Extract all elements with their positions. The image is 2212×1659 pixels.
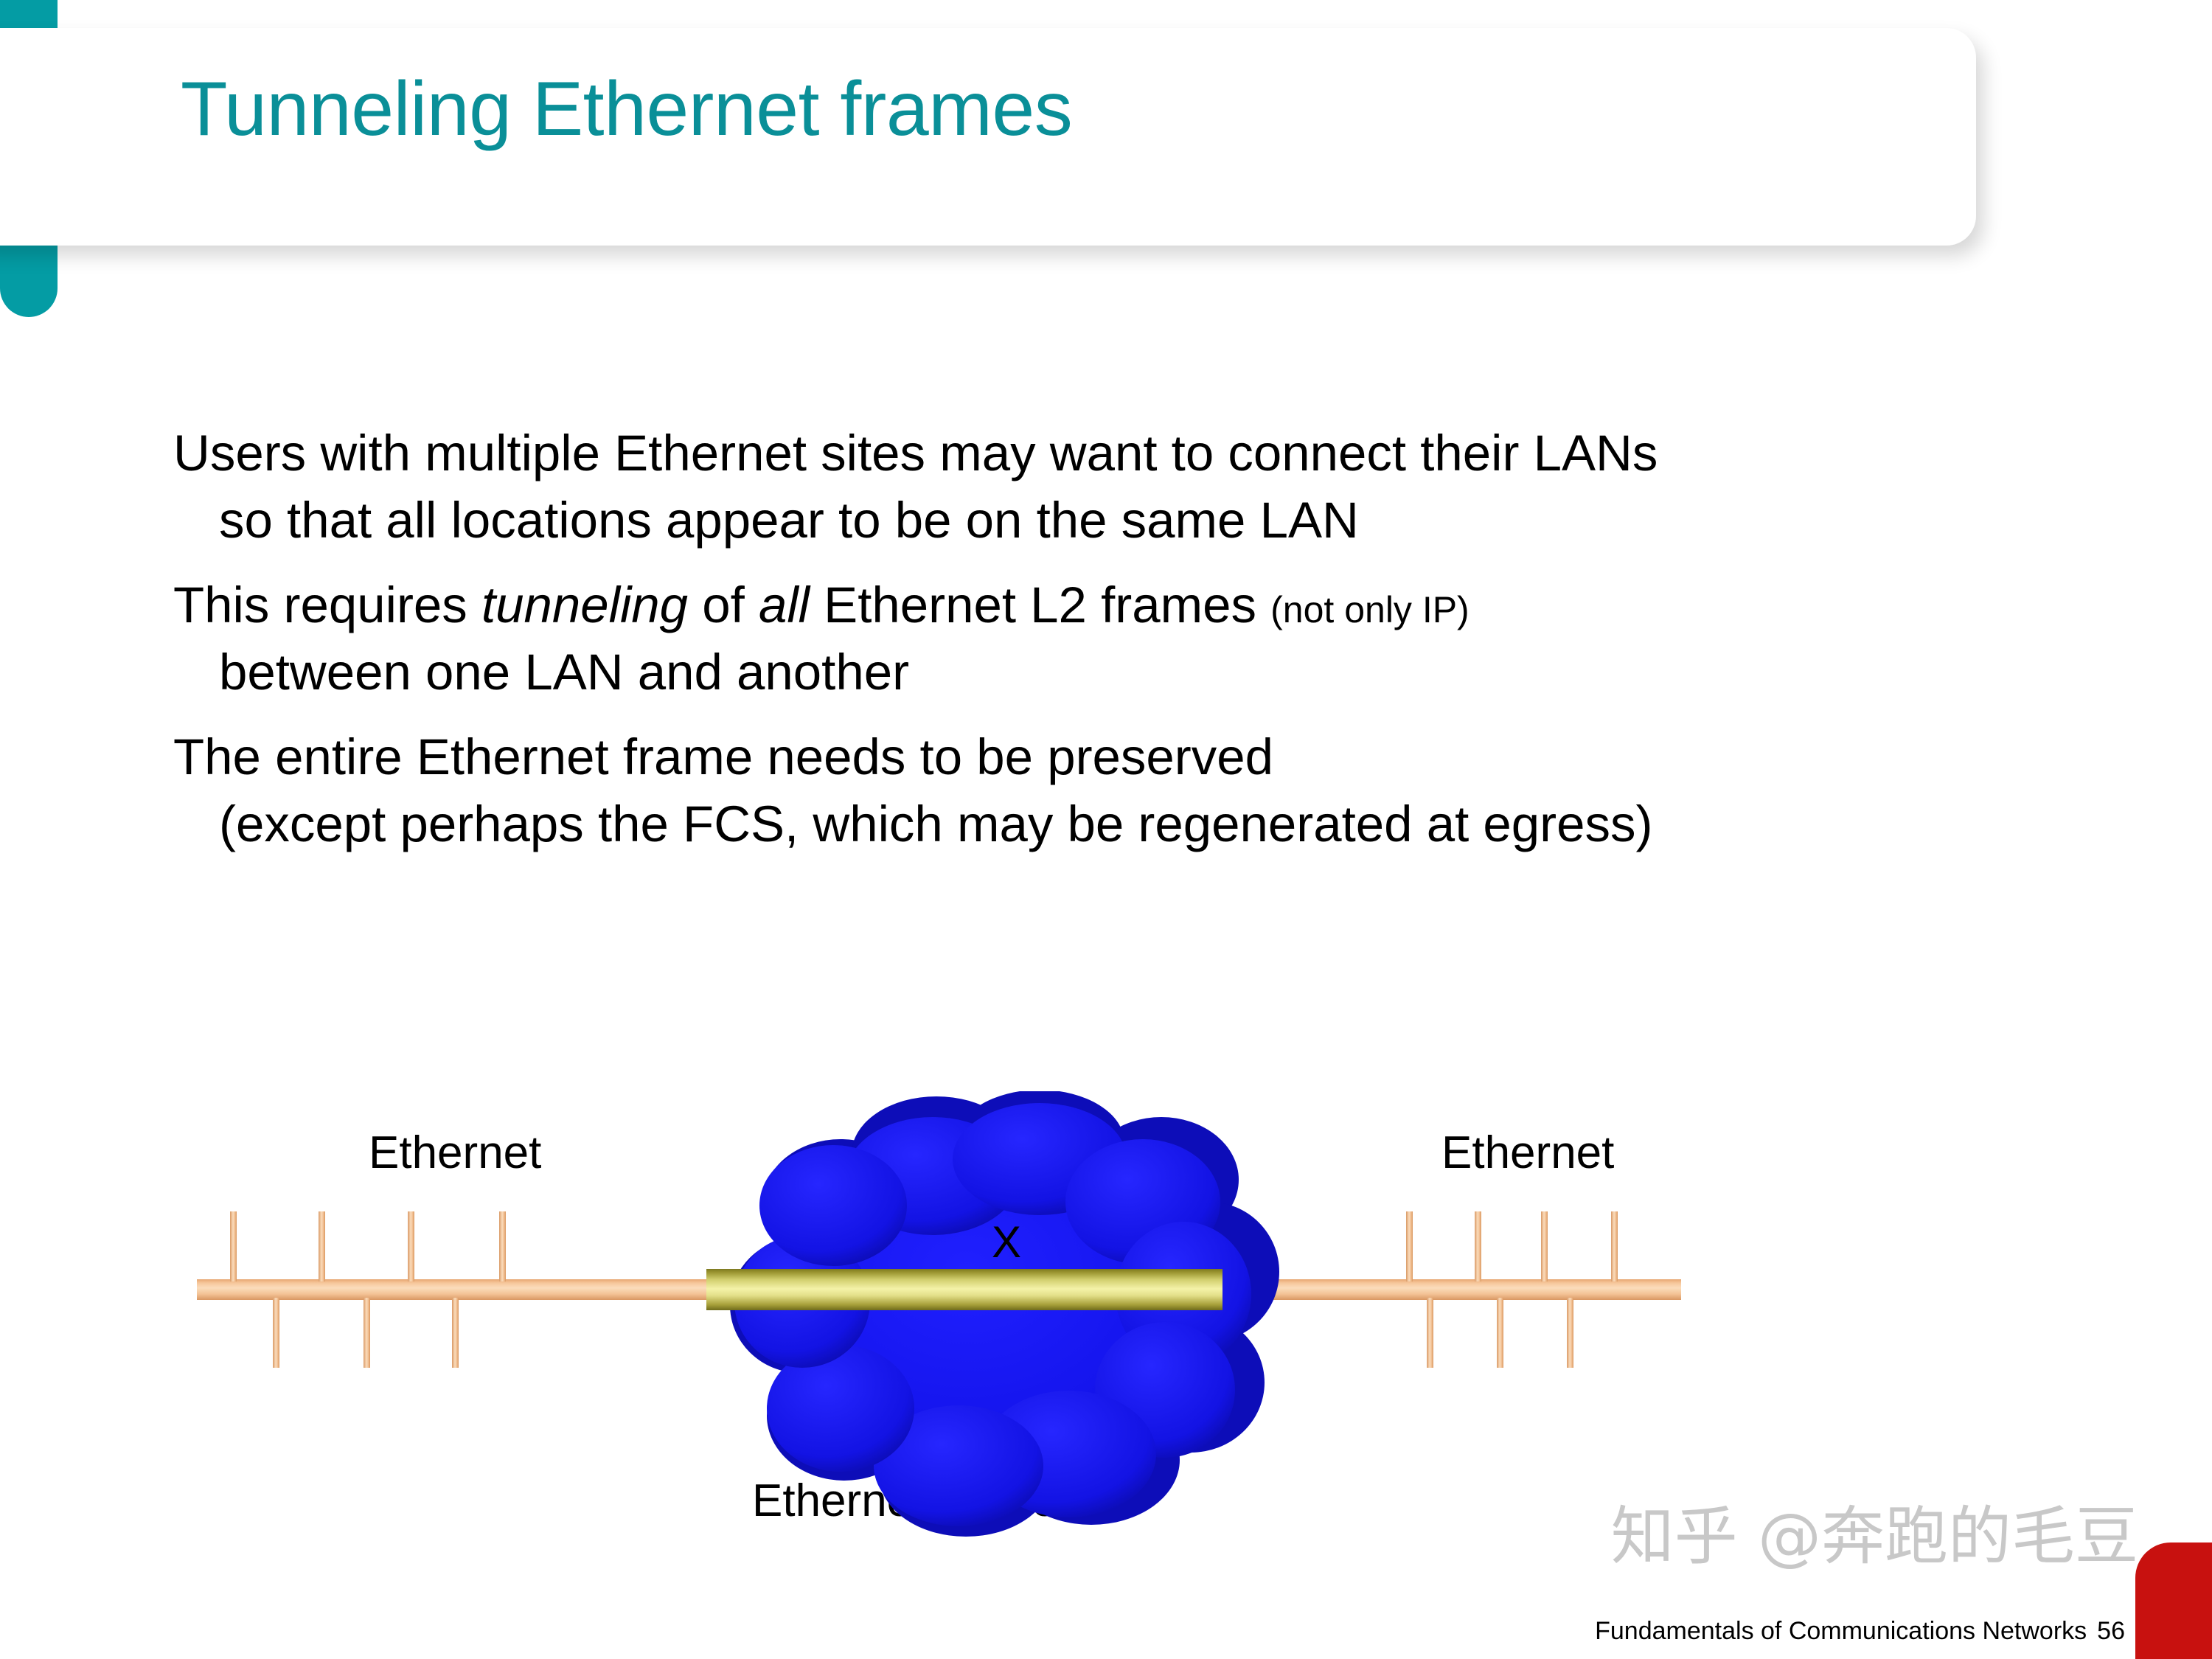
network-cloud-x	[723, 1091, 1283, 1541]
paragraph-1-text: Users with multiple Ethernet sites may w…	[173, 425, 1658, 481]
footer-course-name: Fundamentals of Communications Networks	[1595, 1617, 2087, 1645]
bus-stub-up	[1406, 1211, 1413, 1281]
paragraph-3-line-2: (except perhaps the FCS, which may be re…	[173, 799, 2017, 849]
cloud-label-x: X	[992, 1217, 1021, 1267]
zhihu-watermark: 知乎 @奔跑的毛豆	[1611, 1484, 2138, 1576]
bullet-paragraph-2: This requires tunneling of all Ethernet …	[173, 580, 2017, 698]
bus-stub-down	[1497, 1298, 1503, 1368]
slide-footer: Fundamentals of Communications Networks5…	[1595, 1617, 2125, 1646]
ethernet-bus-left	[197, 1279, 713, 1300]
paragraph-2-line-1: This requires tunneling of all Ethernet …	[173, 580, 2017, 630]
bus-stub-down	[452, 1298, 459, 1368]
paragraph-2-text-a: This requires	[173, 577, 481, 633]
bullet-paragraph-3: The entire Ethernet frame needs to be pr…	[173, 731, 2017, 849]
slide-canvas: Tunneling Ethernet frames Users with mul…	[0, 0, 2212, 1659]
paragraph-1-line-2: so that all locations appear to be on th…	[173, 495, 2017, 546]
diagram-label-ethernet-right: Ethernet	[1441, 1127, 1614, 1179]
red-corner-accent	[2135, 1543, 2212, 1659]
body-content: Users with multiple Ethernet sites may w…	[173, 428, 2017, 883]
bus-stub-down	[364, 1298, 370, 1368]
paragraph-2-text-c: Ethernet L2 frames	[810, 577, 1270, 633]
paragraph-2-text-b: of	[688, 577, 759, 633]
bus-stub-up	[1541, 1211, 1548, 1281]
bus-stub-down	[1427, 1298, 1433, 1368]
bus-stub-up	[408, 1211, 414, 1281]
diagram-label-ethernet-left: Ethernet	[369, 1127, 541, 1179]
footer-page-number: 56	[2097, 1617, 2125, 1645]
bus-stub-down	[1567, 1298, 1573, 1368]
bullet-paragraph-1: Users with multiple Ethernet sites may w…	[173, 428, 2017, 546]
paragraph-2-emphasis-tunneling: tunneling	[481, 577, 688, 633]
page-title: Tunneling Ethernet frames	[181, 71, 1072, 147]
bus-stub-up	[319, 1211, 325, 1281]
bus-stub-up	[1475, 1211, 1481, 1281]
paragraph-3-text: The entire Ethernet frame needs to be pr…	[173, 728, 1273, 785]
paragraph-1-line-1: Users with multiple Ethernet sites may w…	[173, 428, 2017, 479]
paragraph-2-note: (not only IP)	[1270, 589, 1470, 630]
tunnel-cylinder	[706, 1269, 1222, 1310]
bus-stub-down	[273, 1298, 279, 1368]
paragraph-2-emphasis-all: all	[759, 577, 810, 633]
bus-stub-up	[230, 1211, 237, 1281]
paragraph-3-line-1: The entire Ethernet frame needs to be pr…	[173, 731, 2017, 782]
bus-stub-up	[1611, 1211, 1618, 1281]
paragraph-2-line-2: between one LAN and another	[173, 647, 2017, 698]
bus-stub-up	[499, 1211, 506, 1281]
